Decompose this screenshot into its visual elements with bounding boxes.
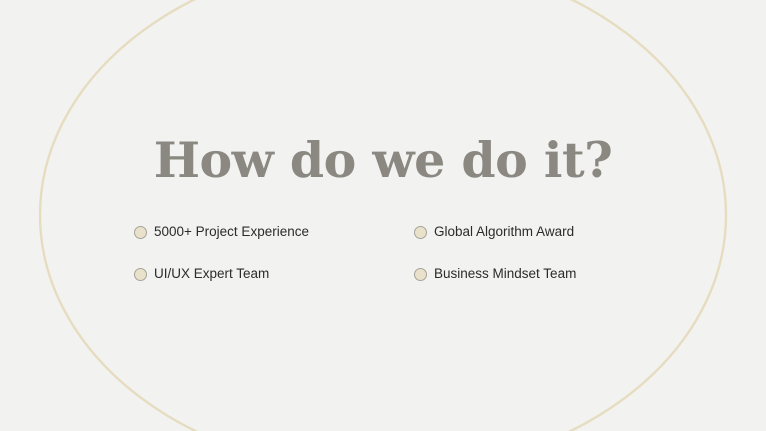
feature-list-row: UI/UX Expert Team Business Mindset Team: [134, 264, 634, 306]
feature-list: 5000+ Project Experience Global Algorith…: [134, 222, 634, 306]
list-item-label: UI/UX Expert Team: [154, 265, 269, 283]
list-item: 5000+ Project Experience: [134, 222, 414, 242]
decorative-ellipse-outline: [0, 0, 766, 431]
list-item-label: Business Mindset Team: [434, 265, 576, 283]
feature-list-row: 5000+ Project Experience Global Algorith…: [134, 222, 634, 264]
list-item: UI/UX Expert Team: [134, 264, 414, 284]
list-item-label: Global Algorithm Award: [434, 223, 574, 241]
circle-bullet-icon: [414, 226, 427, 239]
circle-bullet-icon: [134, 226, 147, 239]
list-item: Business Mindset Team: [414, 264, 634, 284]
list-item-label: 5000+ Project Experience: [154, 223, 309, 241]
circle-bullet-icon: [134, 268, 147, 281]
slide-canvas: How do we do it? 5000+ Project Experienc…: [0, 0, 766, 431]
list-item: Global Algorithm Award: [414, 222, 634, 242]
circle-bullet-icon: [414, 268, 427, 281]
page-title: How do we do it?: [0, 131, 766, 189]
